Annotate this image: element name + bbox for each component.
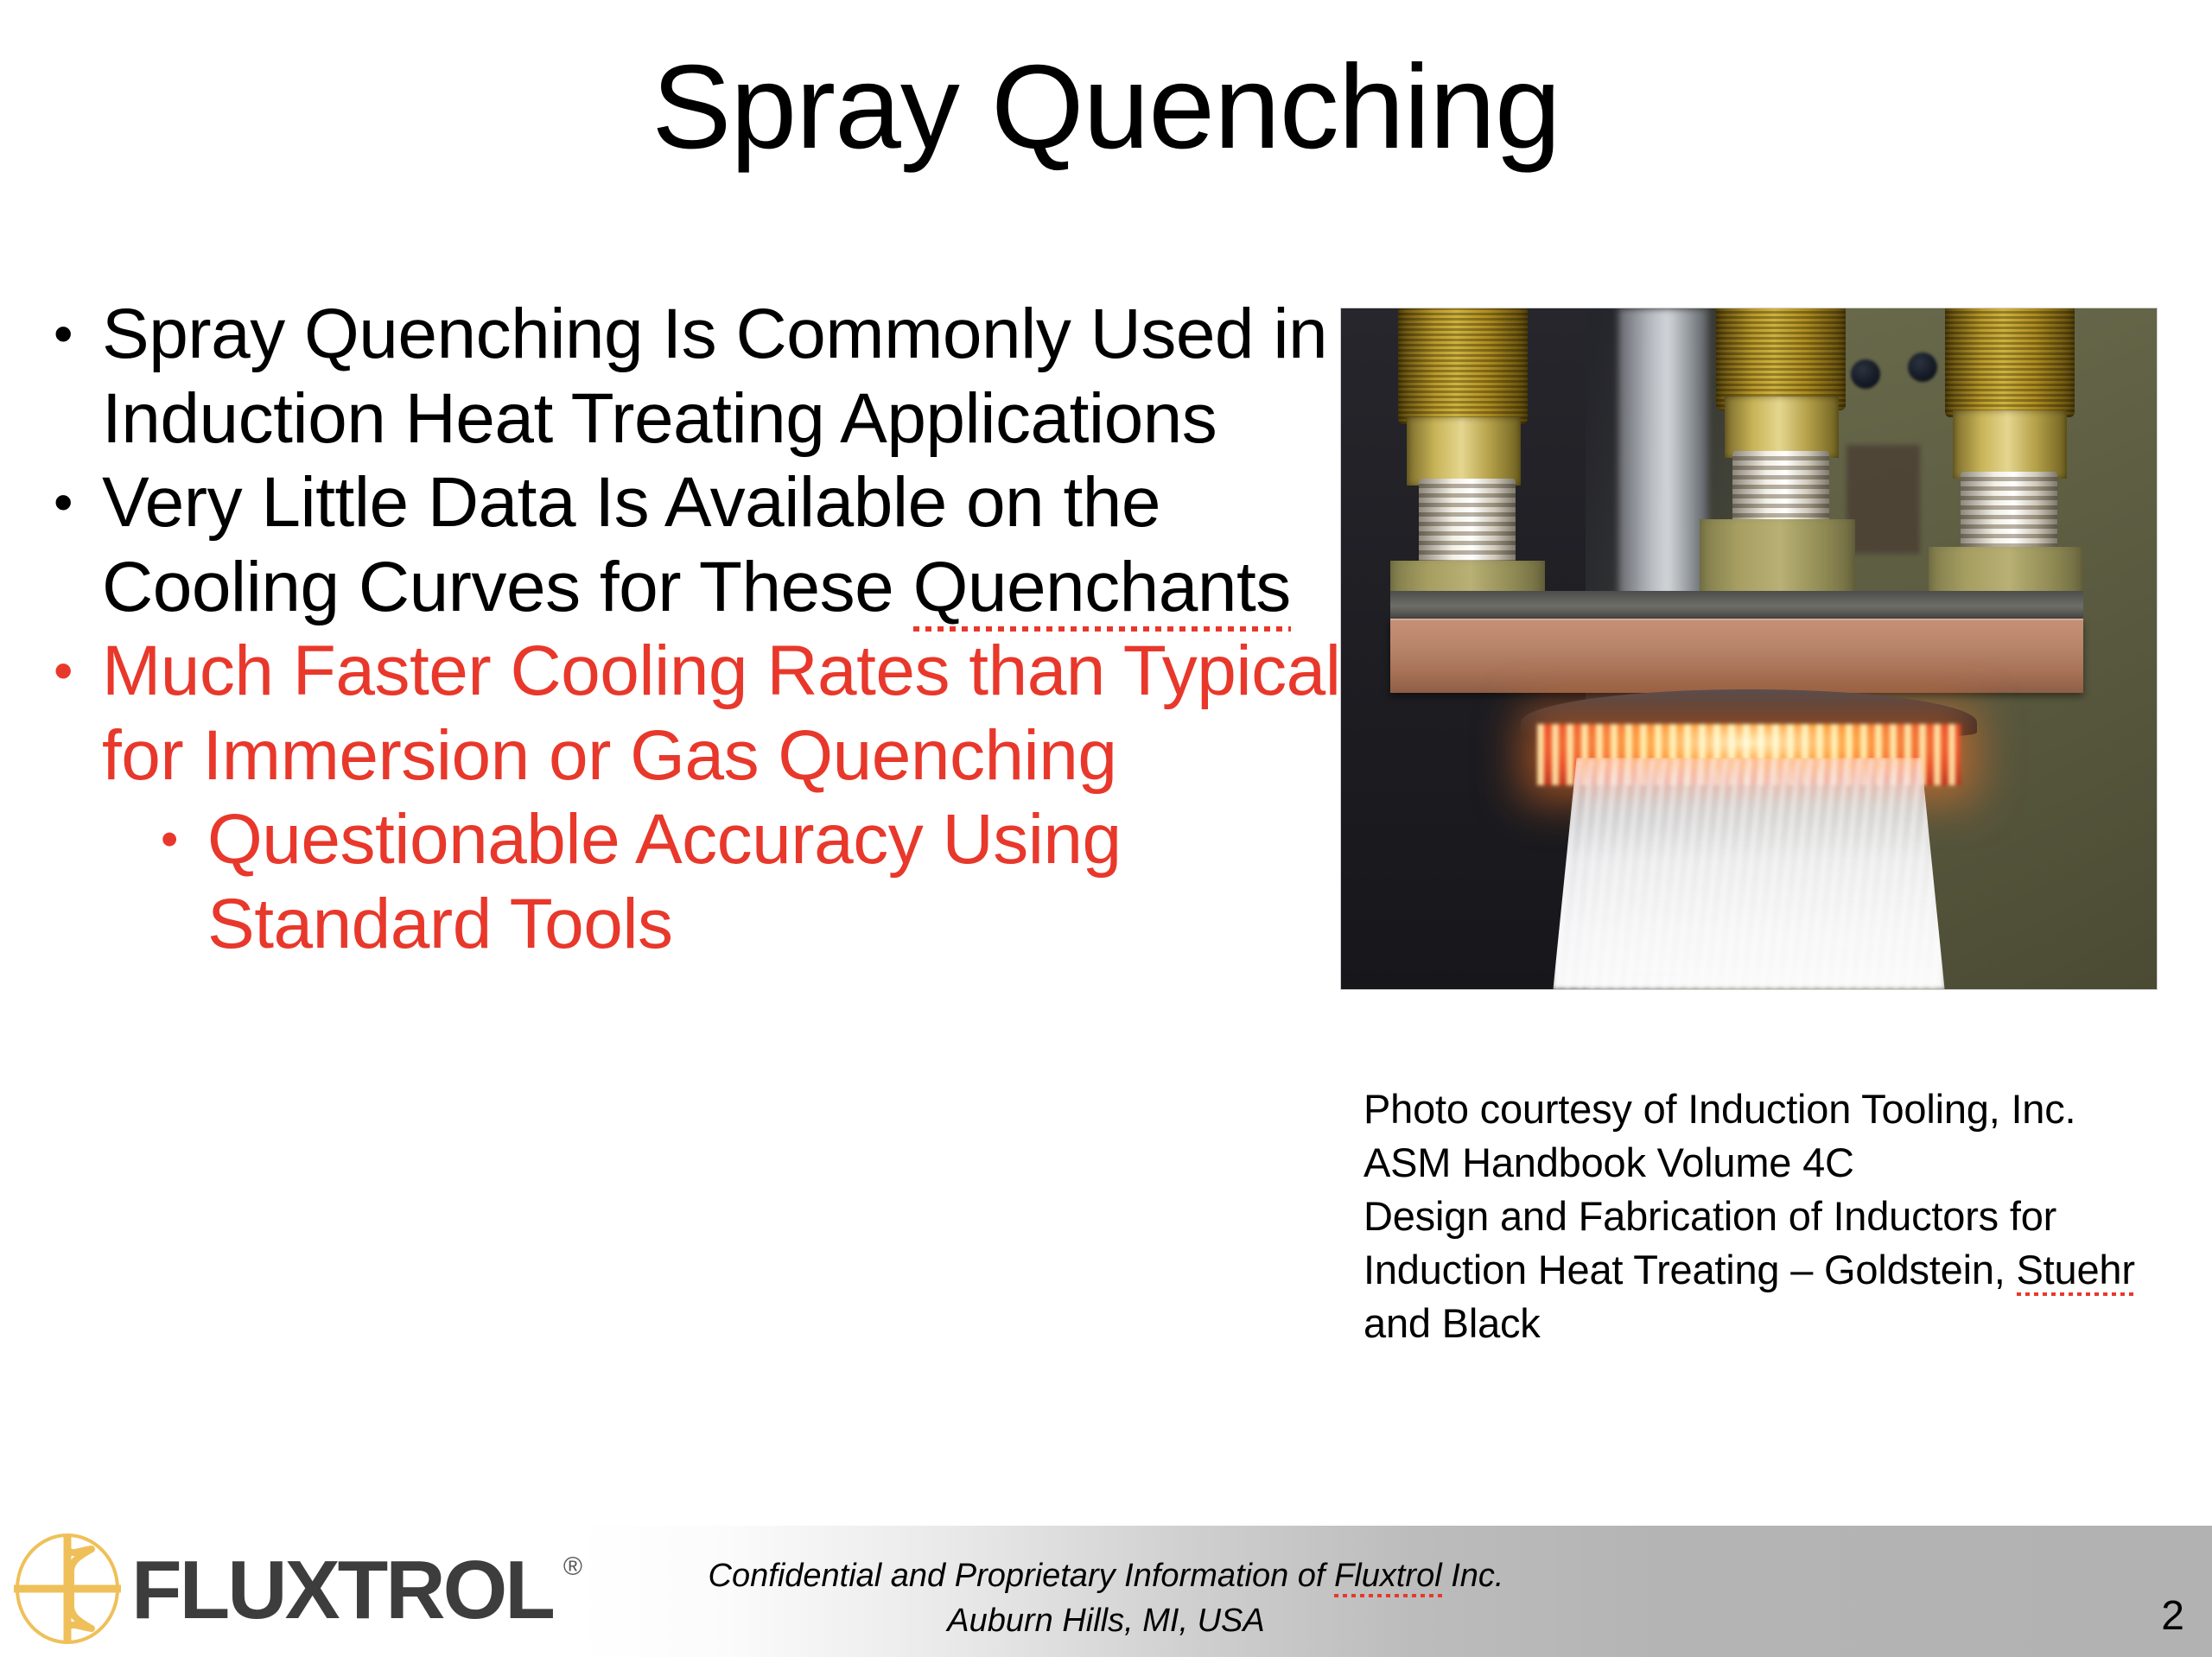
bullet-item-1: • Spray Quenching Is Commonly Used in In… (54, 292, 1350, 460)
bullet-marker-icon: • (54, 629, 102, 713)
bullet-item-2: • Very Little Data Is Available on the C… (54, 460, 1350, 629)
bullet-item-4: • Questionable Accuracy Using Standard T… (161, 797, 1350, 966)
bullet-item-3: • Much Faster Cooling Rates than Typical… (54, 629, 1350, 797)
fluxtrol-wordmark: FLUXTROL® (131, 1549, 553, 1632)
fluxtrol-flux-mark-icon (10, 1532, 124, 1650)
brass-fitting-left (1398, 308, 1528, 424)
photo-port-hole (1851, 359, 1880, 389)
caption-line-5: and Black (1363, 1297, 2193, 1350)
bullet-marker-icon: • (54, 292, 102, 376)
photo-caption: Photo courtesy of Induction Tooling, Inc… (1363, 1082, 2193, 1350)
water-spray-streaks (1553, 758, 1944, 989)
caption-line-3: Design and Fabrication of Inductors for (1363, 1190, 2193, 1243)
bullet-item-3-text: Much Faster Cooling Rates than Typical f… (102, 629, 1350, 797)
photo-background (1341, 308, 2157, 989)
spellcheck-word-quenchants: Quenchants (913, 548, 1291, 633)
caption-line-1: Photo courtesy of Induction Tooling, Inc… (1363, 1082, 2193, 1136)
fluxtrol-logo: FLUXTROL® (10, 1527, 553, 1654)
bullet-item-4-text: Questionable Accuracy Using Standard Too… (207, 797, 1350, 966)
slide: Spray Quenching • Spray Quenching Is Com… (0, 0, 2212, 1657)
footer-bar: Confidential and Proprietary Information… (0, 1526, 2212, 1657)
copper-bus-plate (1390, 619, 2083, 694)
bullet-item-2-text: Very Little Data Is Available on the Coo… (102, 460, 1350, 629)
sub-bullet-marker-icon: • (161, 797, 207, 881)
footer-line-1-lead: Confidential and Proprietary Information… (709, 1558, 1335, 1594)
page-number: 2 (2161, 1592, 2184, 1640)
brass-fitting-center (1716, 308, 1846, 410)
photo-metal-cylinder (1618, 308, 1708, 621)
steel-backing-plate (1390, 591, 2083, 621)
brass-hex-nut-right (1953, 410, 2067, 479)
brass-fitting-right (1945, 308, 2075, 417)
brass-hex-nut-center (1725, 397, 1839, 458)
fluxtrol-wordmark-text: FLUXTROL (131, 1544, 553, 1636)
page-title: Spray Quenching (0, 45, 2212, 170)
registered-trademark-icon: ® (563, 1554, 582, 1580)
bullet-item-1-text: Spray Quenching Is Commonly Used in Indu… (102, 292, 1350, 460)
ceramic-insulator-left (1419, 479, 1516, 567)
photo-brown-box (1847, 445, 1920, 554)
spellcheck-word-stuehr: Stuehr (2017, 1247, 2135, 1297)
bullet-marker-icon: • (54, 460, 102, 544)
induction-coil-spray-quench-photo (1341, 308, 2157, 989)
caption-line-4: Induction Heat Treating – Goldstein, Stu… (1363, 1243, 2193, 1297)
brass-hex-nut-left (1407, 417, 1521, 486)
bullet-list: • Spray Quenching Is Commonly Used in In… (54, 292, 1350, 967)
caption-line-4-lead: Induction Heat Treating – Goldstein, (1363, 1247, 2017, 1292)
footer-line-1-tail: Inc. (1442, 1558, 1504, 1594)
spellcheck-word-fluxtrol: Fluxtrol (1334, 1558, 1442, 1598)
caption-line-2: ASM Handbook Volume 4C (1363, 1136, 2193, 1190)
